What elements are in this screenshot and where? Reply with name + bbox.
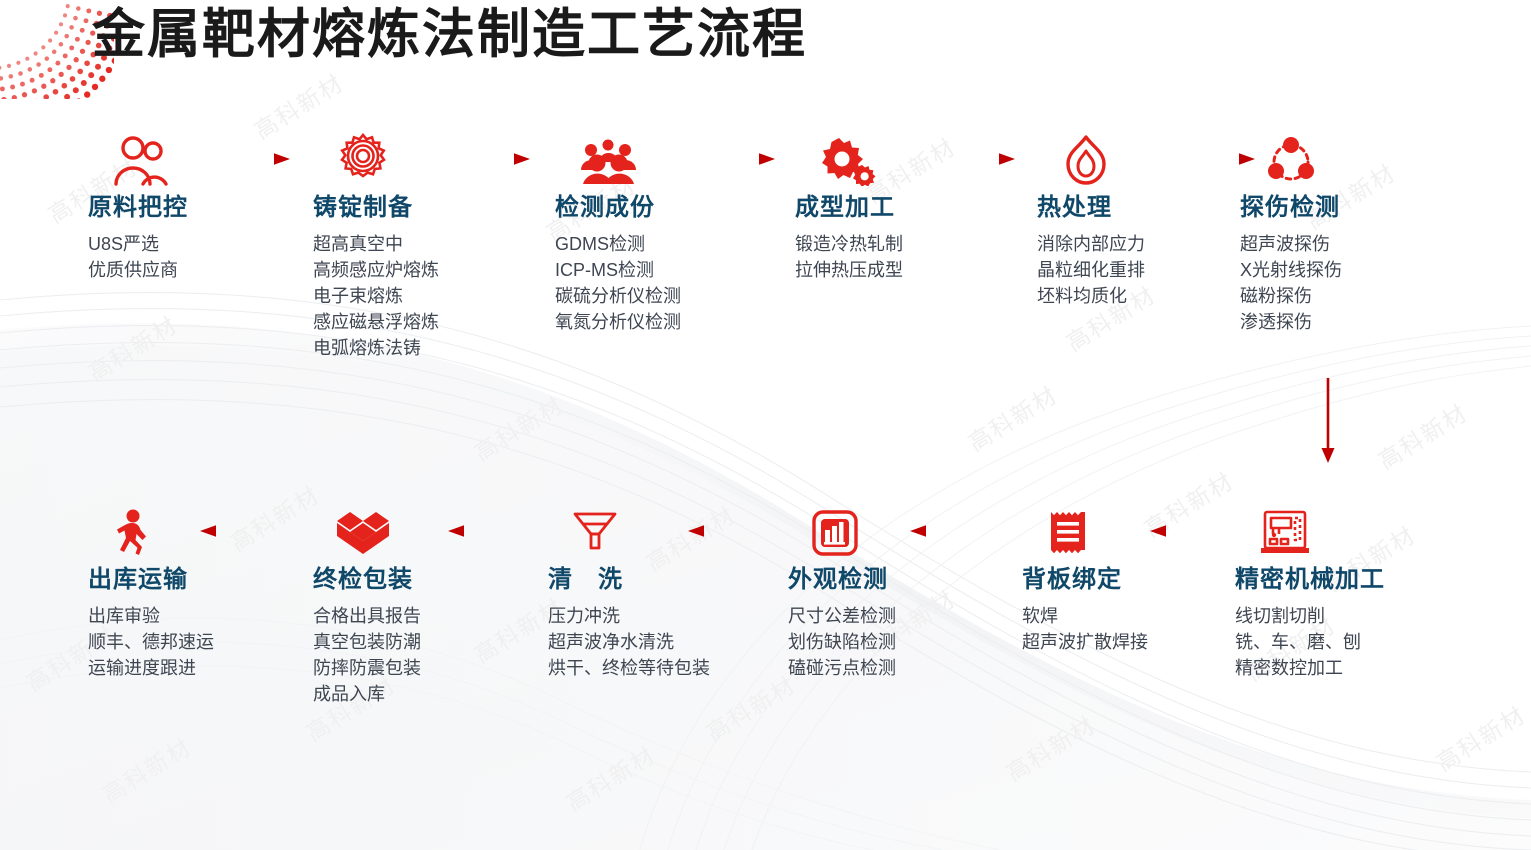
people-group-icon bbox=[577, 128, 770, 186]
step-title: 精密机械加工 bbox=[1235, 564, 1465, 596]
step-title: 背板绑定 bbox=[1022, 564, 1237, 596]
step-title: 出库运输 bbox=[88, 564, 303, 596]
step-title: 铸锭制备 bbox=[313, 192, 528, 224]
step-title: 清 洗 bbox=[548, 564, 763, 596]
two-people-icon bbox=[110, 128, 303, 186]
process-flow-diagram: 原料把控 U8S严选 优质供应商 铸锭制备 超高真空中 高频感应炉熔炼 电子束熔… bbox=[0, 0, 1531, 850]
step-detail-line: 精密数控加工 bbox=[1235, 655, 1465, 681]
step-detail-line: 锻造冷热轧制 bbox=[795, 231, 1010, 257]
step-detail-line: ICP-MS检测 bbox=[555, 257, 770, 283]
step-detail-line: 磕碰污点检测 bbox=[788, 655, 1003, 681]
step-details: 消除内部应力 晶粒细化重排 坯料均质化 bbox=[1037, 231, 1252, 309]
process-step-3[interactable]: 检测成份 GDMS检测 ICP-MS检测 碳硫分析仪检测 氧氮分析仪检测 bbox=[555, 128, 770, 335]
step-title: 检测成份 bbox=[555, 192, 770, 224]
process-step-5[interactable]: 热处理 消除内部应力 晶粒细化重排 坯料均质化 bbox=[1037, 128, 1252, 309]
step-details: 软焊 超声波扩散焊接 bbox=[1022, 603, 1237, 655]
step-detail-line: 感应磁悬浮熔炼 bbox=[313, 309, 528, 335]
step-details: 尺寸公差检测 划伤缺陷检测 磕碰污点检测 bbox=[788, 603, 1003, 681]
step-details: 压力冲洗 超声波净水清洗 烘干、终检等待包装 bbox=[548, 603, 763, 681]
step-details: U8S严选 优质供应商 bbox=[88, 231, 303, 283]
step-detail-line: 超声波净水清洗 bbox=[548, 629, 763, 655]
flow-arrow-6-to-7 bbox=[1320, 378, 1336, 464]
step-detail-line: 铣、车、磨、刨 bbox=[1235, 629, 1465, 655]
step-details: 超高真空中 高频感应炉熔炼 电子束熔炼 感应磁悬浮熔炼 电弧熔炼法铸 bbox=[313, 231, 528, 361]
step-detail-line: 氧氮分析仪检测 bbox=[555, 309, 770, 335]
step-detail-line: 成品入库 bbox=[313, 681, 528, 707]
step-detail-line: 消除内部应力 bbox=[1037, 231, 1252, 257]
step-detail-line: 电子束熔炼 bbox=[313, 283, 528, 309]
backing-plate-icon bbox=[1044, 500, 1237, 558]
step-title: 热处理 bbox=[1037, 192, 1252, 224]
step-detail-line: 出库审验 bbox=[88, 603, 303, 629]
step-detail-line: 超声波探伤 bbox=[1240, 231, 1455, 257]
step-detail-line: 线切割切削 bbox=[1235, 603, 1465, 629]
page-title: 金属靶材熔炼法制造工艺流程 bbox=[92, 2, 807, 68]
cnc-machine-icon bbox=[1257, 500, 1465, 558]
step-detail-line: 高频感应炉熔炼 bbox=[313, 257, 528, 283]
step-detail-line: U8S严选 bbox=[88, 231, 303, 257]
step-detail-line: 划伤缺陷检测 bbox=[788, 629, 1003, 655]
step-detail-line: 合格出具报告 bbox=[313, 603, 528, 629]
step-details: GDMS检测 ICP-MS检测 碳硫分析仪检测 氧氮分析仪检测 bbox=[555, 231, 770, 335]
step-detail-line: GDMS检测 bbox=[555, 231, 770, 257]
walking-person-icon bbox=[110, 500, 303, 558]
step-detail-line: 渗透探伤 bbox=[1240, 309, 1455, 335]
process-step-6[interactable]: 探伤检测 超声波探伤 X光射线探伤 磁粉探伤 渗透探伤 bbox=[1240, 128, 1455, 335]
step-title: 原料把控 bbox=[88, 192, 303, 224]
gear-target-icon bbox=[335, 128, 528, 186]
process-step-8[interactable]: 背板绑定 软焊 超声波扩散焊接 bbox=[1022, 500, 1237, 655]
step-detail-line: 优质供应商 bbox=[88, 257, 303, 283]
page-header: 金属靶材熔炼法制造工艺流程 bbox=[0, 0, 1531, 95]
step-detail-line: 烘干、终检等待包装 bbox=[548, 655, 716, 681]
step-detail-line: 尺寸公差检测 bbox=[788, 603, 1003, 629]
step-detail-line: 超高真空中 bbox=[313, 231, 528, 257]
step-detail-line: 拉伸热压成型 bbox=[795, 257, 1010, 283]
process-step-7[interactable]: 精密机械加工 线切割切削 铣、车、磨、刨 精密数控加工 bbox=[1235, 500, 1465, 681]
step-detail-line: 防摔防震包装 bbox=[313, 655, 528, 681]
process-step-9[interactable]: 外观检测 尺寸公差检测 划伤缺陷检测 磕碰污点检测 bbox=[788, 500, 1003, 681]
step-detail-line: 磁粉探伤 bbox=[1240, 283, 1455, 309]
step-detail-line: 软焊 bbox=[1022, 603, 1237, 629]
step-detail-line: 顺丰、德邦速运 bbox=[88, 629, 303, 655]
step-detail-line: 超声波扩散焊接 bbox=[1022, 629, 1237, 655]
funnel-icon bbox=[570, 500, 763, 558]
process-step-11[interactable]: 终检包装 合格出具报告 真空包装防潮 防摔防震包装 成品入库 bbox=[313, 500, 528, 707]
step-details: 合格出具报告 真空包装防潮 防摔防震包装 成品入库 bbox=[313, 603, 528, 707]
step-detail-line: 压力冲洗 bbox=[548, 603, 763, 629]
process-step-10[interactable]: 清 洗 压力冲洗 超声波净水清洗 烘干、终检等待包装 bbox=[548, 500, 763, 681]
step-detail-line: X光射线探伤 bbox=[1240, 257, 1455, 283]
step-detail-line: 坯料均质化 bbox=[1037, 283, 1252, 309]
process-step-1[interactable]: 原料把控 U8S严选 优质供应商 bbox=[88, 128, 303, 283]
step-details: 线切割切削 铣、车、磨、刨 精密数控加工 bbox=[1235, 603, 1465, 681]
step-details: 出库审验 顺丰、德邦速运 运输进度跟进 bbox=[88, 603, 303, 681]
process-step-12[interactable]: 出库运输 出库审验 顺丰、德邦速运 运输进度跟进 bbox=[88, 500, 303, 681]
step-title: 终检包装 bbox=[313, 564, 528, 596]
step-detail-line: 晶粒细化重排 bbox=[1037, 257, 1252, 283]
step-title: 成型加工 bbox=[795, 192, 1010, 224]
step-details: 超声波探伤 X光射线探伤 磁粉探伤 渗透探伤 bbox=[1240, 231, 1455, 335]
step-details: 锻造冷热轧制 拉伸热压成型 bbox=[795, 231, 1010, 283]
step-title: 探伤检测 bbox=[1240, 192, 1455, 224]
step-title: 外观检测 bbox=[788, 564, 1003, 596]
open-box-icon bbox=[335, 500, 528, 558]
step-detail-line: 运输进度跟进 bbox=[88, 655, 303, 681]
step-detail-line: 真空包装防潮 bbox=[313, 629, 528, 655]
three-nodes-icon bbox=[1262, 128, 1455, 186]
process-step-4[interactable]: 成型加工 锻造冷热轧制 拉伸热压成型 bbox=[795, 128, 1010, 283]
two-gears-icon bbox=[817, 128, 1010, 186]
process-step-2[interactable]: 铸锭制备 超高真空中 高频感应炉熔炼 电子束熔炼 感应磁悬浮熔炼 电弧熔炼法铸 bbox=[313, 128, 528, 361]
factory-inspect-icon bbox=[810, 500, 1003, 558]
step-detail-line: 电弧熔炼法铸 bbox=[313, 335, 528, 361]
step-detail-line: 碳硫分析仪检测 bbox=[555, 283, 770, 309]
flame-icon bbox=[1059, 128, 1252, 186]
